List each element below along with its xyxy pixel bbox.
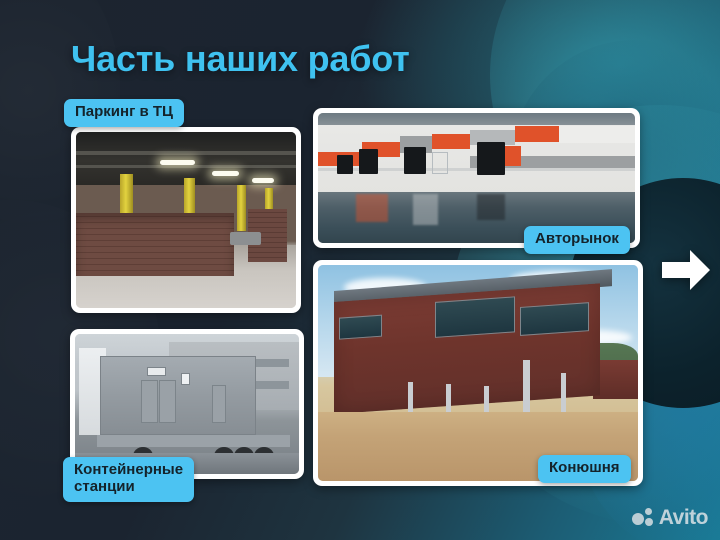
market-reflection — [356, 194, 388, 223]
photo-card-parking[interactable] — [71, 127, 301, 313]
parking-light — [212, 171, 238, 176]
parking-light — [160, 160, 195, 165]
container-door — [212, 385, 226, 423]
photo-image-auto-market — [318, 113, 635, 243]
avito-watermark: Avito — [632, 506, 708, 530]
stable-window-strip — [435, 296, 515, 338]
photo-image-container-stations — [75, 334, 299, 474]
next-slide-arrow-button[interactable] — [660, 248, 712, 292]
stable-side-building — [593, 360, 638, 399]
market-panel-orange — [432, 134, 470, 150]
parking-vehicle — [230, 232, 261, 244]
avito-wordmark: Avito — [659, 506, 708, 530]
parking-beam — [76, 151, 296, 155]
parking-light — [252, 178, 274, 183]
photo-label-stable: Конюшня — [538, 455, 631, 483]
page-title: Часть наших работ — [71, 38, 410, 80]
market-doorway — [359, 149, 378, 174]
container-module — [100, 356, 257, 434]
market-panel-orange — [515, 126, 559, 142]
photo-label-auto-market: Авторынок — [524, 226, 630, 254]
market-scaffold — [432, 152, 448, 174]
avito-dots-icon — [632, 508, 654, 528]
photo-image-stable — [318, 265, 638, 481]
parking-column — [237, 185, 246, 231]
stable-facade — [334, 283, 600, 414]
container-door — [141, 380, 158, 423]
container-door — [159, 380, 176, 423]
container-vent — [147, 367, 166, 376]
container-trailer-bed — [97, 435, 290, 448]
photo-card-stable[interactable] — [313, 260, 643, 486]
market-doorway — [404, 147, 426, 174]
photo-image-parking — [76, 132, 296, 308]
parking-beam — [76, 165, 296, 168]
photo-label-parking: Паркинг в ТЦ — [64, 99, 184, 127]
stable-window-strip — [520, 302, 589, 336]
market-doorway — [477, 142, 506, 176]
stable-window-strip — [339, 314, 381, 339]
market-reflection — [477, 194, 506, 220]
container-marking — [181, 373, 190, 385]
market-panel-white — [559, 126, 635, 143]
parking-brick-wall — [76, 213, 234, 276]
arrow-right-icon — [660, 248, 712, 292]
photo-label-container-stations: Контейнерные станции — [63, 457, 194, 502]
market-reflection — [413, 194, 438, 225]
market-doorway — [337, 155, 353, 175]
